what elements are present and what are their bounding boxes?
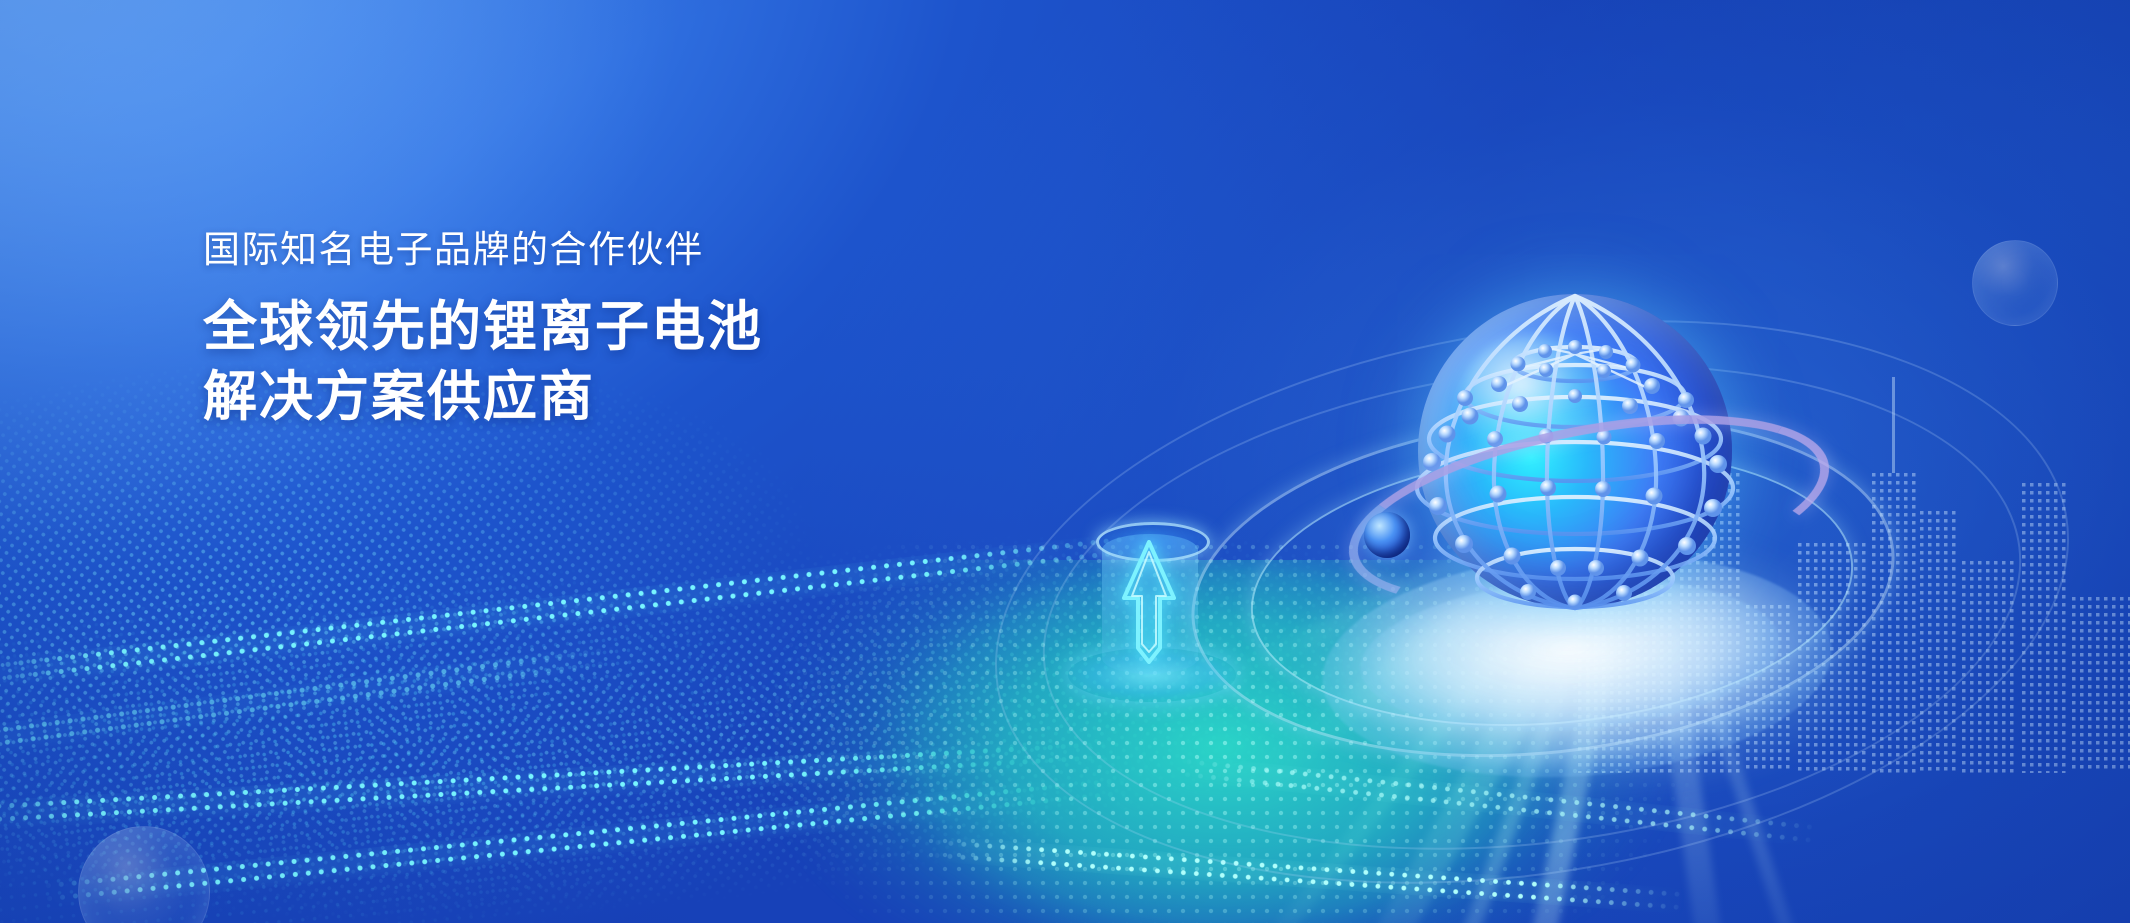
hero-headline-line-1: 全球领先的锂离子电池 (203, 292, 763, 362)
hero-eyebrow: 国际知名电子品牌的合作伙伴 (203, 228, 763, 272)
globe-orbit-node (1364, 512, 1410, 558)
hero-banner: 国际知名电子品牌的合作伙伴 全球领先的锂离子电池 解决方案供应商 (0, 0, 2130, 923)
bubble-icon (1972, 240, 2058, 326)
wireframe-globe-icon (1400, 276, 1750, 626)
hero-headline-line-2: 解决方案供应商 (203, 362, 763, 432)
upload-arrow-icon (1118, 536, 1180, 668)
hero-headline: 全球领先的锂离子电池 解决方案供应商 (203, 292, 763, 432)
hero-copy-block: 国际知名电子品牌的合作伙伴 全球领先的锂离子电池 解决方案供应商 (203, 228, 763, 432)
